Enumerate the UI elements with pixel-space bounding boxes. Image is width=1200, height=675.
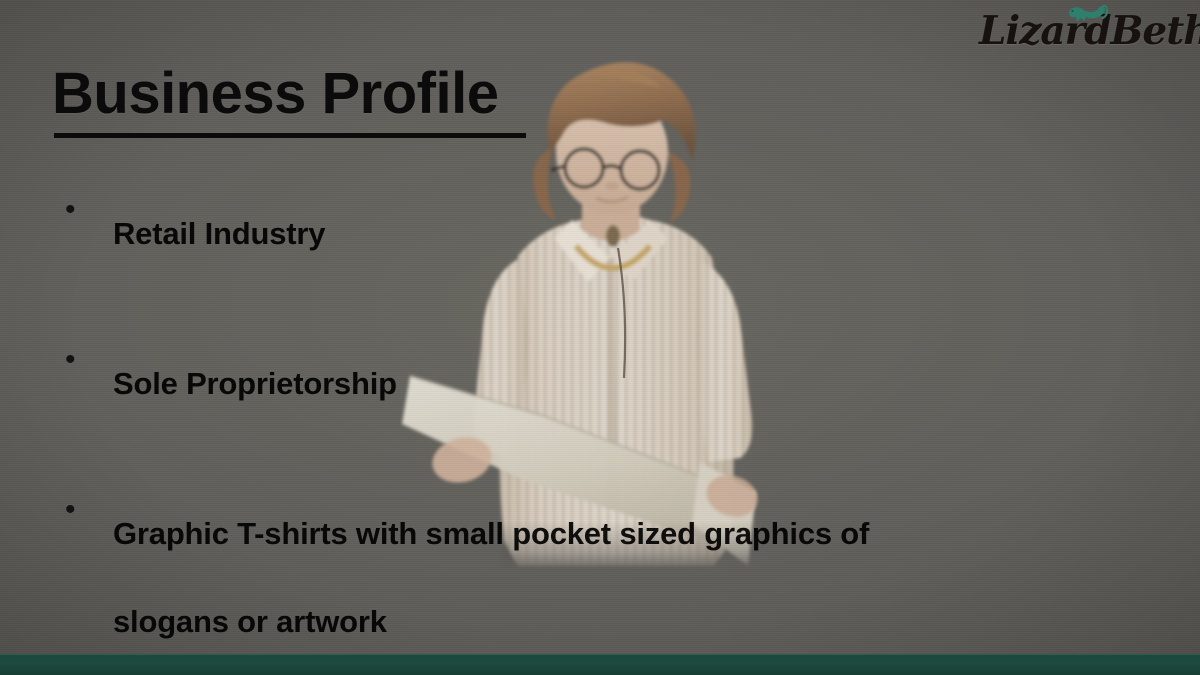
- band-top-highlight: [0, 654, 1200, 655]
- bullet-point-icon: •: [58, 340, 113, 380]
- slide-title: Business Profile: [52, 64, 498, 125]
- bullet-text-line-2: slogans or artwork: [113, 578, 869, 666]
- lizard-icon: [1063, 2, 1109, 28]
- presentation-video-frame: Business Profile • Retail Industry • Sol…: [0, 0, 1200, 675]
- list-item: • Retail Industry: [58, 190, 1068, 278]
- slide-bullet-list: • Retail Industry • Sole Proprietorship …: [58, 190, 1068, 675]
- bottom-accent-band: [0, 654, 1200, 675]
- bullet-text-wrapped: Graphic T-shirts with small pocket sized…: [113, 490, 869, 666]
- bullet-text: Sole Proprietorship: [113, 340, 397, 428]
- list-item: • Sole Proprietorship: [58, 340, 1068, 428]
- slide-title-underline: [54, 133, 526, 138]
- bullet-point-icon: •: [58, 490, 113, 530]
- bullet-point-icon: •: [58, 190, 113, 230]
- bullet-text: Retail Industry: [113, 190, 325, 278]
- lizardbeth-logo: LizardBeth: [979, 4, 1200, 64]
- bullet-text-line-1: Graphic T-shirts with small pocket sized…: [113, 516, 869, 551]
- list-item: • Graphic T-shirts with small pocket siz…: [58, 490, 1068, 666]
